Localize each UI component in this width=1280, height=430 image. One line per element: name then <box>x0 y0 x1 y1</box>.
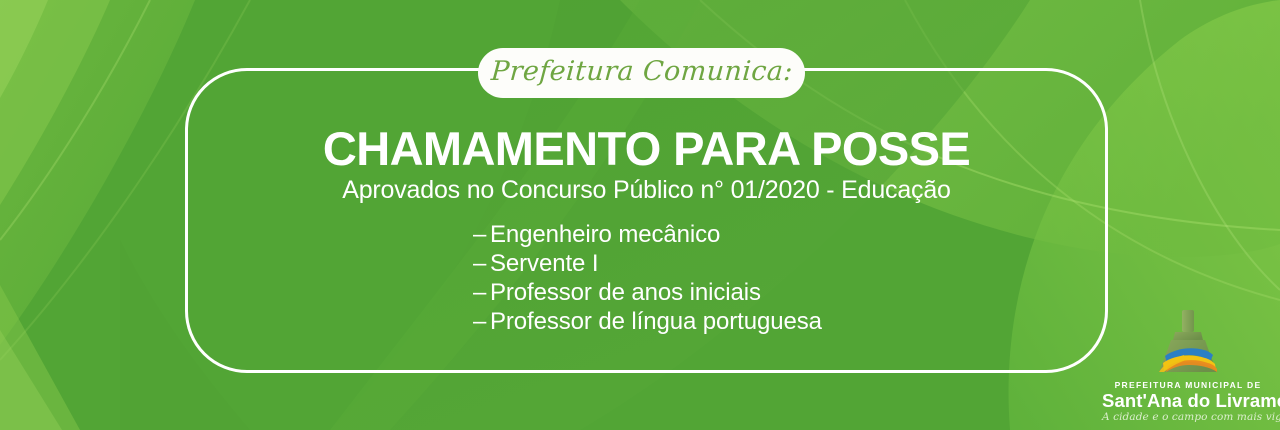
list-item: –Professor de língua portuguesa <box>473 307 822 336</box>
status-badge-label: Prefeitura Comunica: <box>490 58 794 88</box>
logo-kicker: PREFEITURA MUNICIPAL DE <box>1102 381 1274 390</box>
page-title: CHAMAMENTO PARA POSSE <box>185 125 1108 172</box>
bell-icon <box>1146 308 1230 380</box>
list-dash: – <box>473 249 490 278</box>
logo-tagline: A cidade e o campo com mais vigor! <box>1102 411 1274 424</box>
status-badge: Prefeitura Comunica: <box>478 48 805 98</box>
list-dash: – <box>473 278 490 307</box>
list-item-label: Professor de anos iniciais <box>490 279 761 306</box>
logo-name: Sant'Ana do Livramento <box>1102 390 1274 411</box>
list-item-label: Servente I <box>490 250 598 277</box>
announcement-banner: CHAMAMENTO PARA POSSE Aprovados no Concu… <box>0 0 1280 430</box>
list-item-label: Professor de língua portuguesa <box>490 308 822 335</box>
list-dash: – <box>473 220 490 249</box>
list-item: –Engenheiro mecânico <box>473 220 822 249</box>
list-item: –Servente I <box>473 249 822 278</box>
banner-content: CHAMAMENTO PARA POSSE Aprovados no Concu… <box>185 68 1108 373</box>
positions-list: –Engenheiro mecânico –Servente I –Profes… <box>473 220 822 336</box>
logo: PREFEITURA MUNICIPAL DE Sant'Ana do Livr… <box>1102 308 1274 424</box>
page-subtitle: Aprovados no Concurso Público n° 01/2020… <box>185 178 1108 203</box>
list-item-label: Engenheiro mecânico <box>490 221 720 248</box>
list-dash: – <box>473 307 490 336</box>
list-item: –Professor de anos iniciais <box>473 278 822 307</box>
